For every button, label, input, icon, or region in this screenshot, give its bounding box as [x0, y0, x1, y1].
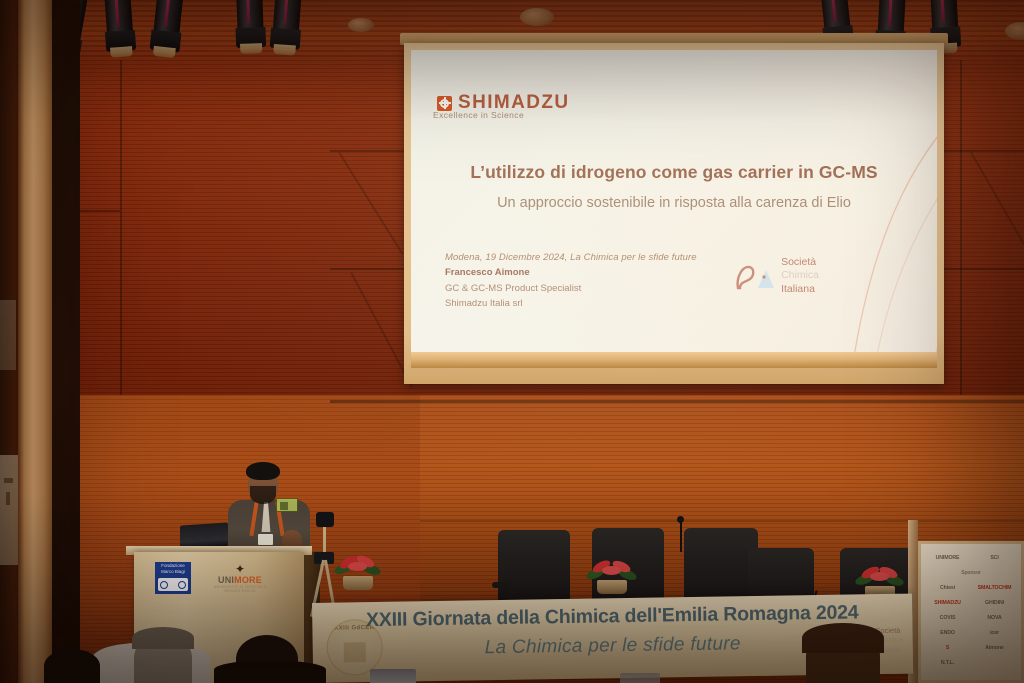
sponsor-logo: ENDO: [926, 627, 969, 639]
table-microphone-head: [677, 516, 684, 523]
sponsor-logo: SCI: [973, 552, 1016, 564]
screen-bottom-lip: [411, 352, 937, 368]
sponsor-logo: SHIMADZU: [926, 597, 969, 609]
sponsor-logo: SMALTOCHIM: [973, 582, 1016, 594]
audience-member-hair: [132, 627, 194, 649]
light-lens: [273, 44, 296, 56]
shimadzu-tagline: Excellence in Science: [433, 110, 524, 120]
sponsor-logo: UNIMORE: [926, 552, 969, 564]
sci-wordmark: Società Chimica Italiana: [781, 256, 819, 296]
sci-line-2: Chimica: [781, 269, 819, 282]
presenter-hair: [246, 462, 280, 480]
poinsettia-plant: [330, 556, 386, 590]
sponsor-logo: NOVA: [973, 612, 1016, 624]
plant-bract: [602, 566, 621, 575]
slide-presenter-org: Shimadzu Italia srl: [445, 296, 697, 311]
wall-seam: [960, 60, 962, 400]
conference-photo-scene: SHIMADZU Excellence in Science L’utilizz…: [0, 0, 1024, 683]
unimore-logo: ✦ UNIMORE UNIVERSITÀ DI MODENA E REGGIO …: [212, 563, 268, 593]
plant-pot: [343, 576, 373, 590]
camera-tripod-head: [316, 512, 334, 527]
shimadzu-ring: [440, 99, 449, 108]
ceiling-vent: [348, 18, 374, 32]
audience-member-head: [44, 649, 100, 683]
wall-seam: [120, 60, 122, 400]
audience-device-screen: [620, 673, 660, 683]
slide-presenter-role: GC & GC-MS Product Specialist: [445, 281, 697, 296]
audience-member-shoulders: [214, 661, 326, 683]
sponsor-logo: S: [926, 642, 969, 654]
slide-surface: SHIMADZU Excellence in Science L’utilizz…: [411, 50, 937, 368]
unimore-prefix: UNI: [218, 575, 234, 585]
slide-presenter-name: Francesco Aimone: [445, 265, 697, 280]
sponsor-logo-grid: UNIMORE SCI Sponsor Chiesi SMALTOCHIM SH…: [926, 552, 1016, 675]
sponsor-board-header: Sponsor: [926, 567, 1016, 579]
plant-pot: [597, 580, 627, 594]
notice-mark: [4, 478, 13, 483]
unimore-star-icon: ✦: [212, 563, 268, 575]
sponsor-logo: Aimone: [973, 642, 1016, 654]
ceiling-vent: [520, 8, 554, 26]
sci-logo: Società Chimica Italiana: [734, 256, 819, 296]
notice-mark: [6, 492, 10, 505]
audience-device-screen: [370, 669, 416, 683]
sponsor-logo: N.T.L.: [926, 657, 969, 669]
shimadzu-crosshair-mark-icon: [437, 96, 452, 111]
sci-line-1: Società: [781, 256, 819, 269]
sci-triangle-logo-icon: [734, 260, 776, 292]
plant-bract: [870, 572, 889, 581]
foundation-line-2: Marco Biagi: [155, 568, 191, 574]
chair-arm: [492, 582, 510, 588]
emergency-exit-sign: [276, 498, 298, 512]
light-lens: [153, 46, 176, 58]
fondazione-marco-biagi-logo: Fondazione Marco Biagi: [155, 562, 191, 594]
slide-meta-block: Modena, 19 Dicembre 2024, La Chimica per…: [445, 250, 697, 312]
wall-seam: [420, 520, 1024, 522]
plant-bract: [348, 562, 367, 571]
presenter-beard: [250, 486, 276, 504]
wall-seam: [330, 400, 1024, 403]
audience-member-hair: [802, 623, 884, 653]
sponsor-board: UNIMORE SCI Sponsor Chiesi SMALTOCHIM SH…: [918, 541, 1024, 683]
sponsor-logo: icer: [973, 627, 1016, 639]
projection-screen: SHIMADZU Excellence in Science L’utilizz…: [404, 43, 944, 384]
light-lens: [240, 43, 262, 54]
hall-pillar: [18, 0, 54, 683]
wall-notice: [0, 455, 18, 565]
unimore-suffix: MORE: [234, 575, 262, 585]
sponsor-logo: COVIS: [926, 612, 969, 624]
table-microphone-stand: [680, 520, 682, 552]
light-lens: [110, 46, 133, 58]
slide-subtitle: Un approccio sostenibile in risposta all…: [411, 195, 937, 211]
slide-event-line: Modena, 19 Dicembre 2024, La Chimica per…: [445, 250, 697, 265]
wall-notice: [0, 300, 16, 370]
poinsettia-plant: [584, 560, 640, 594]
bicycle-icon: [158, 578, 188, 591]
sponsor-logo: Chiesi: [926, 582, 969, 594]
sponsor-logo: GHIDINI: [973, 597, 1016, 609]
sci-line-3: Italiana: [781, 283, 819, 296]
slide-decorative-swoosh: [697, 78, 937, 368]
presenter-badge: [258, 534, 273, 545]
slide-title: L’utilizzo di idrogeno come gas carrier …: [411, 162, 937, 183]
doorway-shadow: [52, 0, 80, 683]
unimore-subtitle: UNIVERSITÀ DI MODENA E REGGIO EMILIA: [212, 585, 268, 593]
unimore-wordmark: UNIMORE: [212, 575, 268, 585]
